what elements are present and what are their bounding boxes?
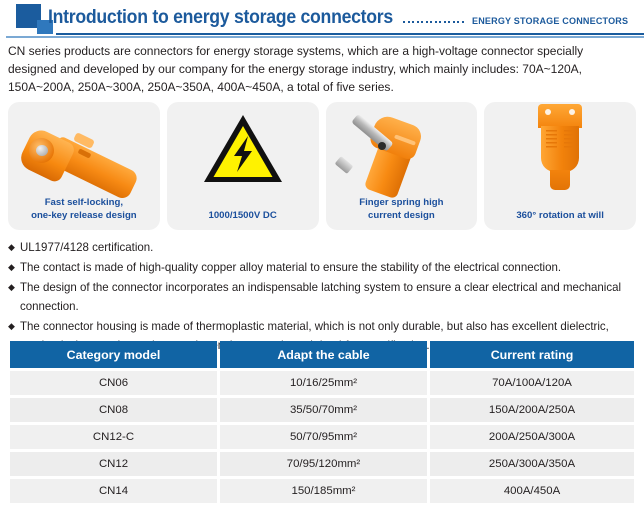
table-row: CN08 35/50/70mm² 150A/200A/250A: [10, 398, 634, 422]
vertical-connector-body-icon: [484, 104, 636, 192]
feature-card: 360° rotation at will: [484, 102, 636, 230]
table-cell-cable: 50/70/95mm²: [220, 425, 427, 449]
table-row: CN06 10/16/25mm² 70A/100A/120A: [10, 371, 634, 395]
table-header-row: Category model Adapt the cable Current r…: [10, 341, 634, 368]
feature-card-list: Fast self-locking,one-key release design…: [8, 102, 636, 230]
orange-connector-plug-icon: [8, 106, 160, 194]
feature-card: 1000/1500V DC: [167, 102, 319, 230]
table-cell-category: CN12: [10, 452, 217, 476]
table-header-cell: Adapt the cable: [220, 341, 427, 368]
feature-card-caption: 360° rotation at will: [488, 210, 632, 223]
feature-card-caption: Finger spring highcurrent design: [330, 197, 474, 222]
table-cell-current: 200A/250A/300A: [430, 425, 634, 449]
page-title: Introduction to energy storage connector…: [48, 7, 393, 29]
bullet-text: The contact is made of high-quality copp…: [20, 258, 630, 277]
feature-card: Fast self-locking,one-key release design: [8, 102, 160, 230]
table-row: CN12 70/95/120mm² 250A/300A/350A: [10, 452, 634, 476]
header-rule-secondary: [6, 36, 644, 38]
table-cell-cable: 70/95/120mm²: [220, 452, 427, 476]
table-cell-cable: 150/185mm²: [220, 479, 427, 503]
intro-paragraph: CN series products are connectors for en…: [8, 42, 627, 96]
feature-card: Finger spring highcurrent design: [326, 102, 478, 230]
table-cell-current: 400A/450A: [430, 479, 634, 503]
feature-card-caption: 1000/1500V DC: [171, 210, 315, 223]
bullet-item: ◆ UL1977/4128 certification.: [8, 238, 636, 257]
high-voltage-warning-triangle-icon: [167, 108, 319, 190]
bullet-text: The design of the connector incorporates…: [20, 278, 630, 316]
table-cell-category: CN12-C: [10, 425, 217, 449]
page-header: Introduction to energy storage connector…: [0, 0, 644, 38]
table-cell-current: 250A/300A/350A: [430, 452, 634, 476]
header-rule-primary: [56, 33, 644, 35]
dotted-leader-icon: [403, 21, 464, 23]
table-cell-cable: 10/16/25mm²: [220, 371, 427, 395]
table-cell-category: CN06: [10, 371, 217, 395]
bullet-item: ◆ The contact is made of high-quality co…: [8, 258, 636, 277]
header-tag: ENERGY STORAGE CONNECTORS: [472, 16, 628, 27]
diamond-bullet-icon: ◆: [8, 238, 15, 257]
diamond-bullet-icon: ◆: [8, 258, 15, 277]
bullet-text: UL1977/4128 certification.: [20, 238, 630, 257]
right-angle-connector-icon: [326, 106, 478, 194]
feature-card-caption: Fast self-locking,one-key release design: [12, 197, 156, 222]
diamond-bullet-icon: ◆: [8, 278, 15, 316]
feature-bullet-list: ◆ UL1977/4128 certification. ◆ The conta…: [8, 238, 636, 356]
header-tagline-group: ENERGY STORAGE CONNECTORS: [403, 16, 636, 27]
table-cell-category: CN08: [10, 398, 217, 422]
table-header-cell: Current rating: [430, 341, 634, 368]
table-cell-category: CN14: [10, 479, 217, 503]
spec-table: Category model Adapt the cable Current r…: [10, 341, 634, 506]
table-cell-cable: 35/50/70mm²: [220, 398, 427, 422]
table-row: CN14 150/185mm² 400A/450A: [10, 479, 634, 503]
bullet-item: ◆ The design of the connector incorporat…: [8, 278, 636, 316]
table-header-cell: Category model: [10, 341, 217, 368]
table-row: CN12-C 50/70/95mm² 200A/250A/300A: [10, 425, 634, 449]
page-root: Introduction to energy storage connector…: [0, 0, 644, 500]
table-cell-current: 150A/200A/250A: [430, 398, 634, 422]
table-cell-current: 70A/100A/120A: [430, 371, 634, 395]
